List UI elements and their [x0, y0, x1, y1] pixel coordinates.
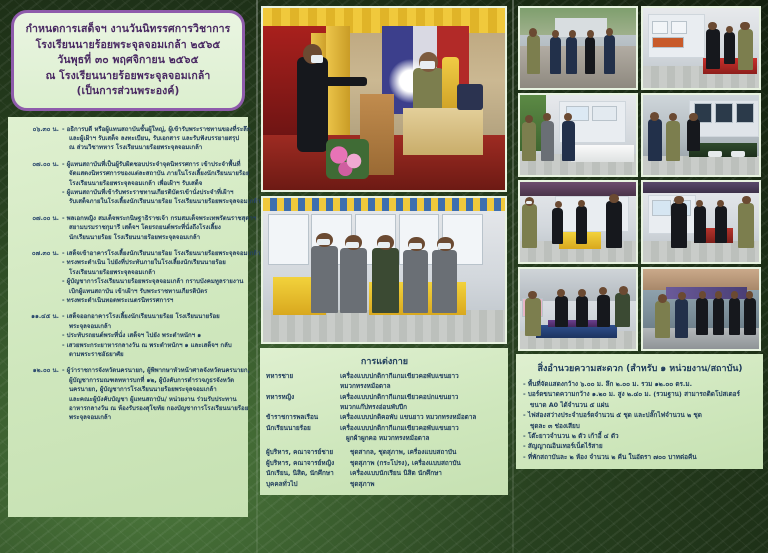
figure-body — [527, 35, 540, 73]
exhibit-poster — [268, 214, 309, 265]
photo-grid — [516, 6, 763, 351]
schedule-line: - ผู้แทนสถาบันที่เป็นผู้รับผิดชอบประจำจุ… — [62, 160, 261, 169]
figure-head — [746, 291, 753, 298]
schedule-line: - ประทับรถยนต์พระที่นั่ง เสด็จฯ ไปยัง พร… — [62, 331, 242, 340]
dress-code-value: ชุดสากล, ชุดสุภาพ, เครื่องแบบสถาบัน — [350, 447, 456, 457]
dress-code-values: เครื่องแบบปกติกากีแกมเขียวคอพับแขนยาว ผู… — [340, 423, 459, 443]
dress-code-value: หมวกแก๊ปทรงอ่อนพับปีก — [340, 402, 458, 412]
schedule-line: - ทรงพระดำเนินทอดพระเนตรนิทรรศการฯ — [62, 296, 260, 305]
schedule-panel: ๐๖.๓๐ น. - อธิการบดี หรือผู้แทนสถาบันชั้… — [8, 117, 248, 517]
schedule-time: ๐๗.๐๐ น. — [12, 160, 62, 207]
dress-code-row: บุคคลทั่วไป ชุดสุภาพ — [266, 479, 503, 489]
ceremony-table — [403, 108, 483, 155]
figure-head — [742, 196, 751, 205]
figure-body — [311, 246, 338, 314]
schedule-line: รับเสด็จภายในโรงเลี้ยงนักเรียนนายร้อย โร… — [62, 197, 261, 206]
dress-code-value: เครื่องแบบปกติกากีแกมเขียวคอปกแขนยาว — [340, 392, 458, 402]
figure-body — [372, 248, 399, 313]
dress-code-row: นักเรียน, นิสิต, นักศึกษา เครื่องแบบนักเ… — [266, 468, 503, 478]
schedule-line: สยามบรมราชกุมารี เสด็จฯ โดยรถยนต์พระที่น… — [62, 223, 256, 232]
schedule-line: - ทรงพระดำเนิน ไปยังที่ประทับภายในโรงเลี… — [62, 258, 260, 267]
poster-root: กำหนดการเสด็จฯ งานวันนิทรรศการวิชาการ โร… — [0, 0, 768, 553]
curtain-decor — [263, 198, 505, 211]
photo-scene — [520, 8, 636, 88]
schedule-time: ๐๗.๓๐ น. — [12, 249, 62, 305]
facilities-panel: สิ่งอำนวยความสะดวก (สำหรับ ๑ หน่วยงาน/สถ… — [516, 354, 763, 469]
ceiling — [643, 182, 759, 193]
figure-body — [696, 298, 708, 335]
figure-body — [522, 122, 536, 160]
schedule-line: - เสวยพระกระยาหารกลางวัน ณ พระตำหนักฯ ๑ … — [62, 341, 242, 350]
facilities-line: - ไฟส่องสว่างประจำบอร์ดจำนวน ๕ ชุด และปล… — [523, 410, 757, 420]
schedule-line: โรงเรียนนายร้อยพระจุลจอมเกล้า — [62, 268, 260, 277]
figure-body — [576, 296, 589, 326]
schedule-body: - ผู้แทนสถาบันที่เป็นผู้รับผิดชอบประจำจุ… — [62, 160, 261, 207]
figure-body — [724, 32, 734, 64]
column-divider-right — [512, 0, 514, 553]
photo-scene — [643, 8, 759, 88]
figure-body — [648, 119, 662, 161]
figure-body — [738, 29, 753, 71]
face-mask — [378, 242, 390, 248]
figure-head — [699, 291, 706, 298]
schedule-line: จัดแสดงนิทรรศการของแต่ละสถาบัน ภายในโรงเ… — [62, 169, 261, 178]
schedule-line: และคณะผู้บังคับบัญชา ผู้แทนสถาบัน/ หน่วย… — [62, 395, 250, 404]
facilities-line: ชุดละ ๓ ช่องเสียบ — [523, 421, 757, 431]
title-line-1: กำหนดการเสด็จฯ งานวันนิทรรศการวิชาการ — [20, 22, 236, 38]
bag-object — [457, 84, 484, 109]
face-mask — [317, 239, 329, 245]
facilities-line: - ที่พักสถาบันละ ๒ ห้อง จำนวน ๒ คืน ในอั… — [523, 452, 757, 462]
photo-scene — [643, 269, 759, 349]
exhibit-poster — [715, 103, 733, 123]
schedule-line: อาหารกลางวัน ณ ห้องรับรองสุโขทัย กองบัญช… — [62, 404, 250, 413]
dress-code-row: ผู้บริหาร, คณาจารย์ชาย ชุดสากล, ชุดสุภาพ… — [266, 447, 503, 457]
photo-exhibition-tour-2 — [641, 180, 761, 264]
title-line-2: โรงเรียนนายร้อยพระจุลจอมเกล้า ๒๕๖๕ — [20, 38, 236, 54]
figure-body — [615, 293, 630, 327]
figure-body — [666, 121, 680, 161]
right-column: สิ่งอำนวยความสะดวก (สำหรับ ๑ หน่วยงาน/สถ… — [512, 0, 768, 553]
schedule-line: เบิกผู้แทนสถาบัน เข้าเฝ้าฯ รับพระราชทานเ… — [62, 287, 260, 296]
photo-royal-ceremony — [261, 6, 507, 192]
title-line-4: ณ โรงเรียนนายร้อยพระจุลจอมเกล้า — [20, 69, 236, 85]
photo-exhibition-booth-3 — [518, 267, 638, 351]
figure-body — [562, 121, 575, 161]
middle-column: การแต่งกาย ทหารชาย เครื่องแบบปกติกากีแกม… — [256, 0, 512, 553]
photo-scene — [263, 8, 505, 190]
photo-exhibition-booth-1 — [518, 93, 638, 177]
dress-code-values: เครื่องแบบปกติกากีแกมเขียวคอพับแขนยาว หม… — [340, 371, 459, 391]
figure-head — [606, 28, 613, 36]
figure-body — [694, 206, 706, 243]
figure-head — [658, 294, 667, 303]
figure-head — [619, 286, 628, 295]
facilities-line: - พื้นที่จัดแสดงกว้าง ๖.๐๐ ม. ลึก ๒.๐๐ ม… — [523, 379, 757, 389]
figure-head — [669, 113, 677, 121]
figure-body — [522, 204, 537, 247]
schedule-time: ๑๒.๐๐ น. — [12, 366, 62, 422]
figure-head — [650, 112, 659, 121]
dress-code-category: ทหารหญิง — [266, 392, 340, 412]
photo-group-delegates — [261, 196, 507, 344]
figure-body — [655, 301, 670, 338]
figure-body — [738, 203, 754, 248]
schedule-line: พระจุลจอมเกล้า — [62, 413, 250, 422]
schedule-body: - เสด็จเข้าอาคารโรงเลี้ยงนักเรียนนายร้อย… — [62, 249, 260, 305]
title-line-3: วันพุธที่ ๓๐ พฤศจิกายน ๒๕๖๕ — [20, 53, 236, 69]
photo-hall-walkthrough — [641, 267, 761, 351]
schedule-body: - อธิการบดี หรือผู้แทนสถาบันชั้นผู้ใหญ่,… — [62, 125, 251, 153]
dress-code-category: ทหารชาย — [266, 371, 340, 391]
drone-model — [708, 151, 722, 157]
photo-scene — [643, 95, 759, 175]
dress-code-value: ชุดสุภาพ — [350, 479, 374, 489]
ceiling — [520, 182, 636, 196]
face-mask — [346, 242, 358, 248]
dress-code-category: ผู้บริหาร, คณาจารย์ชาย — [266, 447, 350, 457]
figure-body — [597, 295, 611, 327]
schedule-line: - เสด็จเข้าอาคารโรงเลี้ยงนักเรียนนายร้อย… — [62, 249, 260, 258]
figure-head — [578, 200, 585, 207]
figure-body — [585, 37, 595, 74]
dress-code-value: เครื่องแบบปกติกากีแกมเขียวคอพับแขนยาว — [340, 423, 459, 433]
face-mask — [409, 243, 421, 249]
dress-code-heading: การแต่งกาย — [266, 354, 503, 368]
figure-officer-body — [297, 57, 328, 152]
exhibit-poster — [652, 37, 684, 49]
title-line-5: (เป็นการส่วนพระองค์) — [20, 84, 236, 100]
figure-head — [715, 291, 722, 298]
dress-code-category: ผู้บริหาร, คณาจารย์หญิง — [266, 458, 350, 468]
dress-code-value: หมวกทรงหม้อตาล — [340, 381, 459, 391]
exhibit-poster — [671, 21, 687, 34]
schedule-body: - ผู้ว่าราชการจังหวัดนครนายก, ผู้พิพากษา… — [62, 366, 250, 422]
dress-code-value: ผูกผ้าผูกคอ หมวกทรงหม้อตาล — [340, 433, 459, 443]
dress-code-row: ทหารหญิง เครื่องแบบปกติกากีแกมเขียวคอปกแ… — [266, 392, 503, 412]
schedule-line: ผู้บัญชาการมณฑลทหารบกที่ ๑๒, ผู้บังคับกา… — [62, 376, 250, 385]
dress-code-panel: การแต่งกาย ทหารชาย เครื่องแบบปกติกากีแกม… — [260, 348, 508, 495]
floor — [263, 310, 505, 342]
dress-code-category: ข้าราชการพลเรือน — [266, 412, 340, 422]
exhibit-poster — [652, 21, 668, 34]
figure-body — [744, 298, 756, 335]
schedule-line: และผู้เฝ้าฯ รับเสด็จ ลงทะเบียน, รับเอกสา… — [62, 134, 251, 143]
figure-body — [541, 121, 554, 161]
figure-head — [569, 30, 576, 38]
schedule-item: ๑๑.๔๕ น. - เสด็จออกอาคารโรงเลี้ยงนักเรีย… — [12, 312, 242, 359]
facilities-line: - โต๊ะยาวจำนวน ๒ ตัว เก้าอี้ ๔ ตัว — [523, 431, 757, 441]
figure-head — [717, 200, 724, 207]
schedule-time: ๐๗.๐๐ น. — [12, 214, 62, 242]
figure-body — [576, 206, 588, 244]
title-box: กำหนดการเสด็จฯ งานวันนิทรรศการวิชาการ โร… — [11, 10, 245, 111]
schedule-line: ณ ส่วนวิชาทหาร โรงเรียนนายร้อยพระจุลจอมเ… — [62, 143, 251, 152]
figure-body — [566, 37, 576, 74]
dress-code-value: เครื่องแบบปกติคอพับ แขนยาว หมวกทรงหม้อตา… — [340, 412, 476, 422]
schedule-item: ๑๒.๐๐ น. - ผู้ว่าราชการจังหวัดนครนายก, ผ… — [12, 366, 242, 422]
figure-body — [552, 208, 562, 245]
figure-body — [432, 250, 456, 313]
schedule-body: - เสด็จออกอาคารโรงเลี้ยงนักเรียนนายร้อย … — [62, 312, 242, 359]
dress-code-values: เครื่องแบบปกติคอพับ แขนยาว หมวกทรงหม้อตา… — [340, 412, 476, 422]
figure-body — [687, 119, 700, 151]
schedule-line: นักเรียนนายร้อย โรงเรียนนายร้อยพระจุลจอม… — [62, 233, 256, 242]
dress-code-row: ทหารชาย เครื่องแบบปกติกากีแกมเขียวคอพับแ… — [266, 371, 503, 391]
figure-body — [550, 37, 560, 74]
schedule-line: - ผู้บัญชาการโรงเรียนนายร้อยพระจุลจอมเกล… — [62, 277, 260, 286]
schedule-line: - ผู้แทนสถาบันที่เข้ารับพระราชทานเกียรติ… — [62, 188, 261, 197]
photo-arrival-salute — [518, 6, 638, 90]
face-mask — [311, 55, 323, 62]
dress-code-category: นักเรียน, นิสิต, นักศึกษา — [266, 468, 350, 478]
dress-code-category: บุคคลทั่วไป — [266, 479, 350, 489]
photo-scene — [520, 95, 636, 175]
figure-body — [715, 206, 727, 243]
schedule-item: ๐๗.๓๐ น. - เสด็จเข้าอาคารโรงเลี้ยงนักเรี… — [12, 249, 242, 305]
figure-head — [525, 115, 533, 123]
face-mask — [438, 243, 450, 249]
figure-body — [713, 298, 725, 335]
schedule-body: - พลเอกหญิง สมเด็จพระกนิษฐาธิราชเจ้า กรม… — [62, 214, 256, 242]
figure-body — [606, 201, 622, 247]
face-mask — [526, 201, 532, 204]
display-table — [536, 325, 617, 338]
figure-body — [555, 296, 568, 326]
figure-arm — [324, 77, 368, 86]
photo-scene — [520, 182, 636, 262]
figure-body — [729, 298, 741, 335]
figure-head — [726, 26, 733, 33]
schedule-line: ตามพระราชอัธยาศัย — [62, 350, 242, 359]
schedule-line: - ผู้ว่าราชการจังหวัดนครนายก, ผู้พิพากษา… — [62, 366, 250, 375]
schedule-time: ๐๖.๓๐ น. — [12, 125, 62, 153]
schedule-line: - เสด็จออกอาคารโรงเลี้ยงนักเรียนนายร้อย … — [62, 312, 242, 321]
schedule-item: ๐๗.๐๐ น. - ผู้แทนสถาบันที่เป็นผู้รับผิดช… — [12, 160, 242, 207]
face-mask — [420, 61, 435, 69]
dress-code-values: เครื่องแบบปกติกากีแกมเขียวคอปกแขนยาว หมว… — [340, 392, 458, 412]
figure-body — [706, 29, 720, 69]
exhibit-poster — [736, 103, 754, 123]
figure-body — [671, 203, 687, 248]
exhibit-poster — [652, 200, 670, 216]
dress-code-row: นักเรียนนายร้อย เครื่องแบบปกติกากีแกมเขี… — [266, 423, 503, 443]
figure-head — [689, 113, 697, 121]
figure-head — [731, 291, 738, 298]
figure-head — [609, 194, 618, 203]
figure-body — [340, 248, 367, 313]
dress-code-row: ผู้บริหาร, คณาจารย์หญิง ชุดสุภาพ (กระโปร… — [266, 458, 503, 468]
schedule-line: พระจุลจอมเกล้า — [62, 322, 242, 331]
vehicle — [555, 18, 607, 37]
flower-arrangement — [326, 139, 370, 179]
schedule-item: ๐๖.๓๐ น. - อธิการบดี หรือผู้แทนสถาบันชั้… — [12, 125, 242, 153]
facilities-heading: สิ่งอำนวยความสะดวก (สำหรับ ๑ หน่วยงาน/สถ… — [523, 361, 757, 375]
figure-body — [604, 35, 616, 73]
drone-model — [731, 151, 745, 157]
schedule-line: โรงเรียนนายร้อยพระจุลจอมเกล้า เพื่อเฝ้าฯ… — [62, 179, 261, 188]
schedule-line: นครนายก, ผู้บัญชาการโรงเรียนนายร้อยพระจุ… — [62, 385, 250, 394]
schedule-line: - อธิการบดี หรือผู้แทนสถาบันชั้นผู้ใหญ่,… — [62, 125, 251, 134]
photo-exhibition-drones — [641, 93, 761, 177]
schedule-time: ๑๑.๔๕ น. — [12, 312, 62, 359]
schedule-line: - พลเอกหญิง สมเด็จพระกนิษฐาธิราชเจ้า กรม… — [62, 214, 256, 223]
figure-body — [525, 298, 541, 336]
figure-head — [674, 196, 683, 205]
photo-scene — [263, 198, 505, 342]
column-divider-left — [256, 0, 258, 553]
schedule-item: ๐๗.๐๐ น. - พลเอกหญิง สมเด็จพระกนิษฐาธิรา… — [12, 214, 242, 242]
dress-code-value: ชุดสุภาพ (กระโปรง), เครื่องแบบสถาบัน — [350, 458, 461, 468]
dress-code-row: ข้าราชการพลเรือน เครื่องแบบปกติคอพับ แขน… — [266, 412, 503, 422]
dress-code-value: เครื่องแบบปกติกากีแกมเขียวคอพับแขนยาว — [340, 371, 459, 381]
facilities-line: - บอร์ดขนาดความกว้าง ๑.๒๐ ม. สูง ๒.๔๐ ม.… — [523, 389, 757, 399]
figure-body — [675, 299, 688, 337]
figure-head — [740, 22, 749, 31]
left-column: กำหนดการเสด็จฯ งานวันนิทรรศการวิชาการ โร… — [0, 0, 256, 553]
figure-head — [587, 30, 594, 38]
facilities-line: ขนาด A0 ได้จำนวน ๕ แผ่น — [523, 400, 757, 410]
dress-code-value: เครื่องแบบนักเรียน นิสิต นักศึกษา — [350, 468, 442, 478]
display-table — [571, 145, 634, 163]
dress-code-category: นักเรียนนายร้อย — [266, 423, 340, 443]
facilities-line: - สัญญาณอินเทอร์เน็ตไร้สาย — [523, 441, 757, 451]
exhibit-poster — [592, 106, 617, 121]
photo-scene — [643, 182, 759, 262]
photo-exhibition-tour-1 — [641, 6, 761, 90]
photo-scene — [520, 269, 636, 349]
figure-body — [403, 250, 427, 313]
photo-exhibition-booth-2 — [518, 180, 638, 264]
